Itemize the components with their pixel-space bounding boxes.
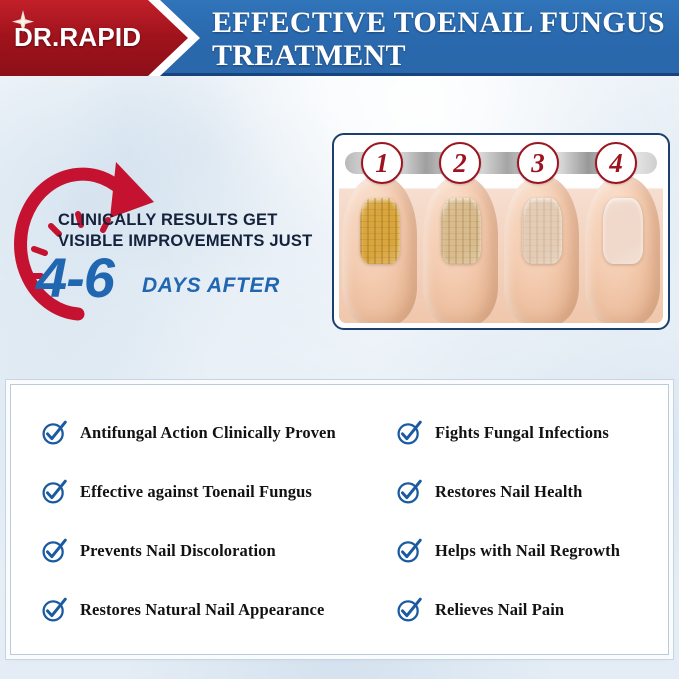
benefit-label: Restores Nail Health bbox=[435, 482, 582, 502]
toenail-improving-light bbox=[522, 198, 562, 264]
toe-skin bbox=[342, 176, 417, 323]
benefit-item: Antifungal Action Clinically Proven bbox=[41, 403, 371, 462]
benefit-label: Prevents Nail Discoloration bbox=[80, 541, 276, 561]
check-circle-icon bbox=[396, 597, 422, 623]
benefits-column-right: Fights Fungal InfectionsRestores Nail He… bbox=[396, 403, 676, 639]
days-number: 4-6 bbox=[36, 250, 114, 306]
toe-skin bbox=[423, 176, 498, 323]
stage-number-1: 1 bbox=[361, 142, 403, 184]
benefit-label: Effective against Toenail Fungus bbox=[80, 482, 312, 502]
toenail-moderate-fungal-tan bbox=[441, 198, 481, 264]
benefit-item: Helps with Nail Regrowth bbox=[396, 521, 676, 580]
check-circle-icon bbox=[41, 479, 67, 505]
benefit-item: Restores Nail Health bbox=[396, 462, 676, 521]
brand-logo: DR.RAPID bbox=[0, 0, 200, 76]
check-circle-icon bbox=[41, 420, 67, 446]
results-promise-block: CLINICALLY RESULTS GET VISIBLE IMPROVEME… bbox=[0, 140, 330, 330]
toenail-healthy-clear bbox=[603, 198, 643, 264]
benefit-label: Restores Natural Nail Appearance bbox=[80, 600, 324, 620]
page-title: EFFECTIVE TOENAIL FUNGUS TREATMENT bbox=[212, 6, 672, 72]
nail-fungal-striations bbox=[522, 198, 562, 264]
check-circle-icon bbox=[41, 538, 67, 564]
toe-row bbox=[339, 170, 663, 323]
toe-skin bbox=[585, 176, 660, 323]
benefit-item: Prevents Nail Discoloration bbox=[41, 521, 371, 580]
toenail-severe-fungal-yellow bbox=[360, 198, 400, 264]
benefit-label: Antifungal Action Clinically Proven bbox=[80, 423, 336, 443]
toe-stage-1 bbox=[339, 170, 420, 323]
check-circle-icon bbox=[396, 479, 422, 505]
nail-fungal-striations bbox=[360, 198, 400, 264]
toe-skin bbox=[504, 176, 579, 323]
benefit-label: Fights Fungal Infections bbox=[435, 423, 609, 443]
check-circle-icon bbox=[396, 420, 422, 446]
check-circle-icon bbox=[396, 538, 422, 564]
nail-fungal-striations bbox=[441, 198, 481, 264]
days-label: DAYS AFTER bbox=[142, 274, 280, 298]
benefit-item: Relieves Nail Pain bbox=[396, 580, 676, 639]
days-callout: 4-6 DAYS AFTER bbox=[36, 252, 336, 312]
benefits-column-left: Antifungal Action Clinically ProvenEffec… bbox=[41, 403, 371, 639]
check-circle-icon bbox=[41, 597, 67, 623]
product-infographic: DR.RAPID EFFECTIVE TOENAIL FUNGUS TREATM… bbox=[0, 0, 679, 679]
check-circle-icon bbox=[41, 538, 67, 564]
toe-stage-2 bbox=[420, 170, 501, 323]
header-banner: DR.RAPID EFFECTIVE TOENAIL FUNGUS TREATM… bbox=[0, 0, 679, 76]
check-circle-icon bbox=[396, 597, 422, 623]
check-circle-icon bbox=[41, 420, 67, 446]
check-circle-icon bbox=[41, 479, 67, 505]
promise-headline-line1: CLINICALLY RESULTS GET bbox=[58, 210, 326, 231]
benefit-item: Effective against Toenail Fungus bbox=[41, 462, 371, 521]
progression-photo: 1234 bbox=[339, 140, 663, 323]
stage-number-4: 4 bbox=[595, 142, 637, 184]
benefit-item: Fights Fungal Infections bbox=[396, 403, 676, 462]
check-circle-icon bbox=[41, 597, 67, 623]
benefits-box: Antifungal Action Clinically ProvenEffec… bbox=[10, 384, 669, 655]
stage-number-2: 2 bbox=[439, 142, 481, 184]
benefit-label: Helps with Nail Regrowth bbox=[435, 541, 620, 561]
logo-text: DR.RAPID bbox=[14, 22, 154, 53]
stage-number-3: 3 bbox=[517, 142, 559, 184]
toe-stage-4 bbox=[582, 170, 663, 323]
benefit-label: Relieves Nail Pain bbox=[435, 600, 564, 620]
toe-stage-3 bbox=[501, 170, 582, 323]
benefit-item: Restores Natural Nail Appearance bbox=[41, 580, 371, 639]
check-circle-icon bbox=[396, 479, 422, 505]
check-circle-icon bbox=[396, 420, 422, 446]
treatment-progression-panel: 1234 bbox=[332, 133, 670, 330]
check-circle-icon bbox=[396, 538, 422, 564]
